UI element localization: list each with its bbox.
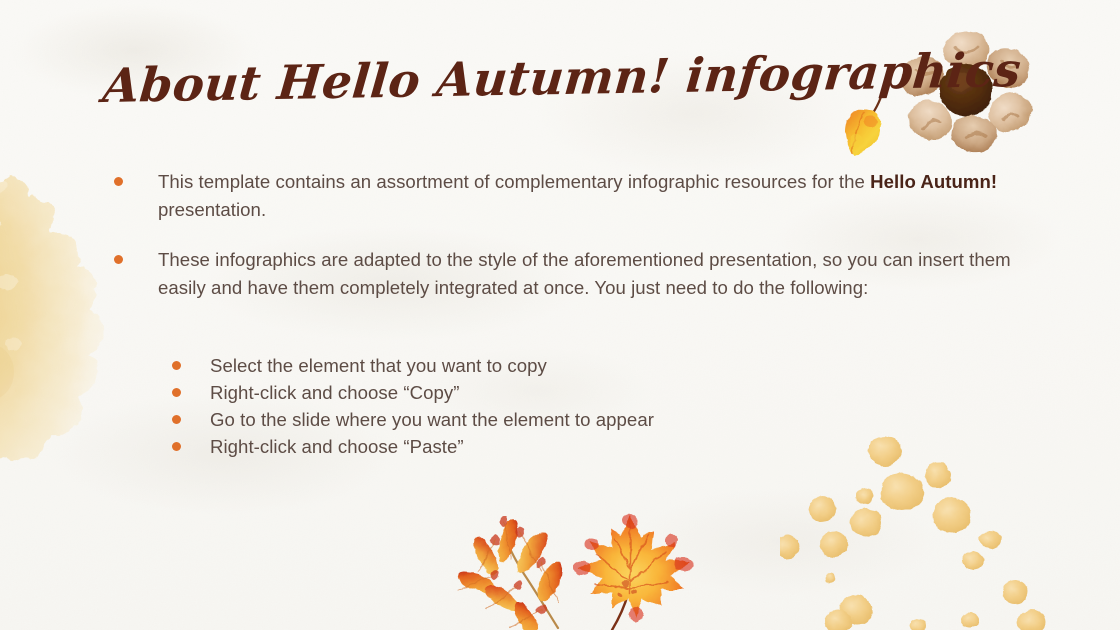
bullet-text: These infographics are adapted to the st…: [158, 246, 1026, 302]
bullet-dot-icon: [172, 415, 181, 424]
bullet-dot-icon: [172, 361, 181, 370]
maple-leaf-icon: [562, 508, 700, 630]
sub-bullet-label: Select the element that you want to copy: [210, 352, 930, 379]
list-item: Select the element that you want to copy: [170, 352, 930, 379]
bullet-dot-icon: [114, 177, 123, 186]
bullet-text: This template contains an assortment of …: [158, 168, 1026, 224]
list-item: Go to the slide where you want the eleme…: [170, 406, 930, 433]
watercolor-dots-cluster: [780, 430, 1120, 630]
slide: About Hello Autumn! infographics This te…: [0, 0, 1120, 630]
sub-bullet-label: Go to the slide where you want the eleme…: [210, 406, 930, 433]
sub-bullet-label: Right-click and choose “Paste”: [210, 433, 930, 460]
watercolor-wash-left: [0, 132, 115, 462]
list-item: Right-click and choose “Copy”: [170, 379, 930, 406]
small-leaf-icon: [838, 92, 902, 162]
list-item: This template contains an assortment of …: [106, 168, 1026, 224]
bullet-dot-icon: [114, 255, 123, 264]
bullet-dot-icon: [172, 442, 181, 451]
list-item: Right-click and choose “Paste”: [170, 433, 930, 460]
bullet-dot-icon: [172, 388, 181, 397]
page-title: About Hello Autumn! infographics: [101, 50, 807, 112]
leaf-branch-icon: [450, 516, 582, 630]
body-bullet-list: This template contains an assortment of …: [106, 168, 1026, 302]
sub-bullet-list: Select the element that you want to copy…: [170, 352, 930, 460]
list-item: These infographics are adapted to the st…: [106, 246, 1026, 302]
sub-bullet-label: Right-click and choose “Copy”: [210, 379, 930, 406]
